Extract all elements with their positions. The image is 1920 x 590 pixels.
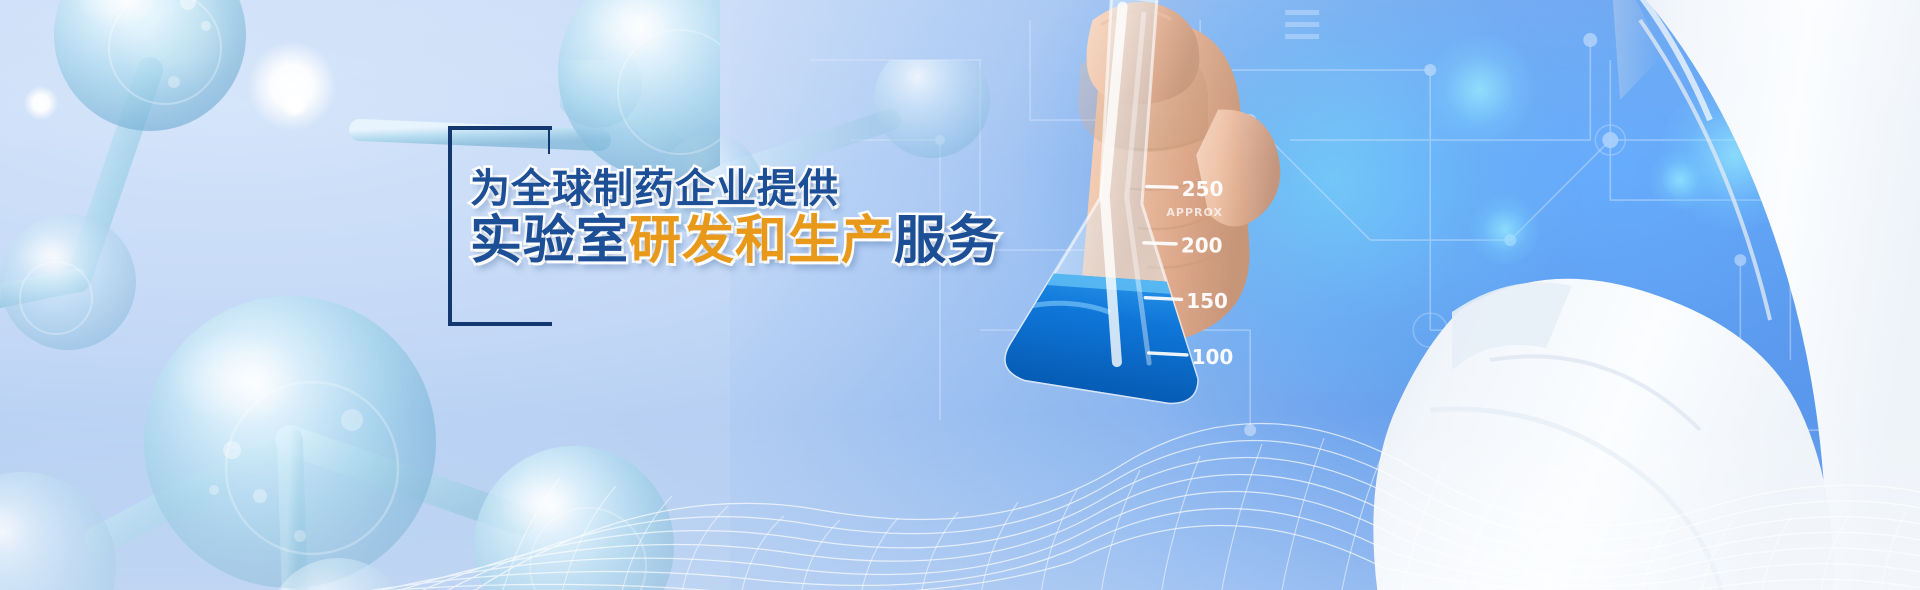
headline-line-2: 实验室研发和生产服务 bbox=[470, 214, 1000, 269]
headline-line-2-part-3: 服务 bbox=[894, 214, 1000, 269]
headline-block: 为全球制药企业提供 实验室研发和生产服务 bbox=[448, 126, 1008, 332]
headline-lines: 为全球制药企业提供 实验室研发和生产服务 bbox=[470, 168, 1000, 270]
headline-line-1-text: 为全球制药企业提供 bbox=[470, 168, 839, 210]
headline-line-1: 为全球制药企业提供 bbox=[470, 168, 1000, 210]
headline-line-2-part-2: 研发和生产 bbox=[629, 214, 894, 269]
hero-banner: 250 APPROX 200 150 100 bbox=[0, 0, 1920, 590]
bracket-tail bbox=[548, 126, 550, 154]
headline-line-2-part-1: 实验室 bbox=[470, 214, 629, 269]
